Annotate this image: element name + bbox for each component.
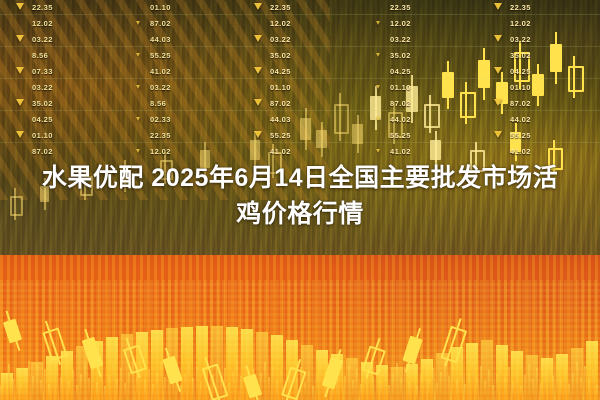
ticker-value: 12.02 <box>128 144 248 160</box>
arrow-down-icon <box>136 21 140 25</box>
ticker-value: 02.33 <box>128 112 248 128</box>
arrow-down-icon <box>494 99 502 106</box>
ticker-value: 41.02 <box>488 144 600 160</box>
ticker-value: 35.02 <box>248 48 368 64</box>
ticker-value: 35.02 <box>368 48 488 64</box>
ticker-value: 12.02 <box>248 16 368 32</box>
ticker-value: 03.22 <box>10 80 130 96</box>
ticker-column: 22.3512.0203.2235.0204.2501.1087.0244.02… <box>488 0 600 160</box>
arrow-down-icon <box>254 67 262 74</box>
grid-line <box>0 78 600 79</box>
ticker-value: 44.02 <box>488 112 600 128</box>
ticker-value: 03.22 <box>128 80 248 96</box>
ticker-value: 01.10 <box>368 80 488 96</box>
arrow-down-icon <box>16 99 24 106</box>
arrow-down-icon <box>254 3 262 10</box>
ticker-column: 01.1087.0244.0355.2541.0203.228.5602.332… <box>128 0 248 160</box>
ticker-column: 22.3512.0203.2235.0204.2501.1087.0244.02… <box>368 0 488 160</box>
title-line-2: 鸡价格行情 <box>0 196 600 232</box>
arrow-down-icon <box>16 131 24 138</box>
arrow-down-icon <box>376 149 380 153</box>
grid-line <box>0 142 600 143</box>
ticker-value: 01.10 <box>248 80 368 96</box>
arrow-down-icon <box>254 131 262 138</box>
title-line-1: 水果优配 2025年6月14日全国主要批发市场活 <box>42 164 558 192</box>
ticker-value: 41.02 <box>368 144 488 160</box>
arrow-down-icon <box>136 117 140 121</box>
arrow-down-icon <box>136 149 140 153</box>
ticker-value: 87.02 <box>128 16 248 32</box>
arrow-down-icon <box>254 99 262 106</box>
ticker-value: 41.02 <box>248 144 368 160</box>
ticker-column: 22.3512.0203.228.5607.3303.2235.0204.250… <box>10 0 130 160</box>
banner-image: 22.3512.0203.228.5607.3303.2235.0204.250… <box>0 0 600 400</box>
page-title: 水果优配 2025年6月14日全国主要批发市场活 鸡价格行情 <box>0 160 600 232</box>
arrow-down-icon <box>16 67 24 74</box>
ticker-value: 12.02 <box>10 16 130 32</box>
arrow-down-icon <box>376 85 380 89</box>
ticker-value: 8.56 <box>10 48 130 64</box>
ticker-value: 87.02 <box>10 144 130 160</box>
ticker-value: 01.10 <box>488 80 600 96</box>
ticker-value: 12.02 <box>368 16 488 32</box>
arrow-down-icon <box>494 67 502 74</box>
arrow-down-icon <box>376 21 380 25</box>
ticker-value: 35.02 <box>488 48 600 64</box>
grid-line <box>0 110 600 111</box>
arrow-down-icon <box>254 35 262 42</box>
arrow-down-icon <box>494 131 502 138</box>
arrow-down-icon <box>136 85 140 89</box>
arrow-down-icon <box>494 35 502 42</box>
arrow-down-icon <box>376 117 380 121</box>
ticker-value: 44.02 <box>368 112 488 128</box>
arrow-down-icon <box>16 3 24 10</box>
grid-line <box>0 14 600 15</box>
ticker-value: 04.25 <box>10 112 130 128</box>
ticker-value: 44.03 <box>248 112 368 128</box>
ticker-value: 12.02 <box>488 16 600 32</box>
arrow-down-icon <box>494 3 502 10</box>
ticker-value: 55.25 <box>128 48 248 64</box>
grid-line <box>0 46 600 47</box>
arrow-down-icon <box>376 53 380 57</box>
arrow-down-icon <box>136 53 140 57</box>
ticker-column: 22.3512.0203.2235.0204.2501.1087.0244.03… <box>248 0 368 160</box>
arrow-down-icon <box>16 35 24 42</box>
